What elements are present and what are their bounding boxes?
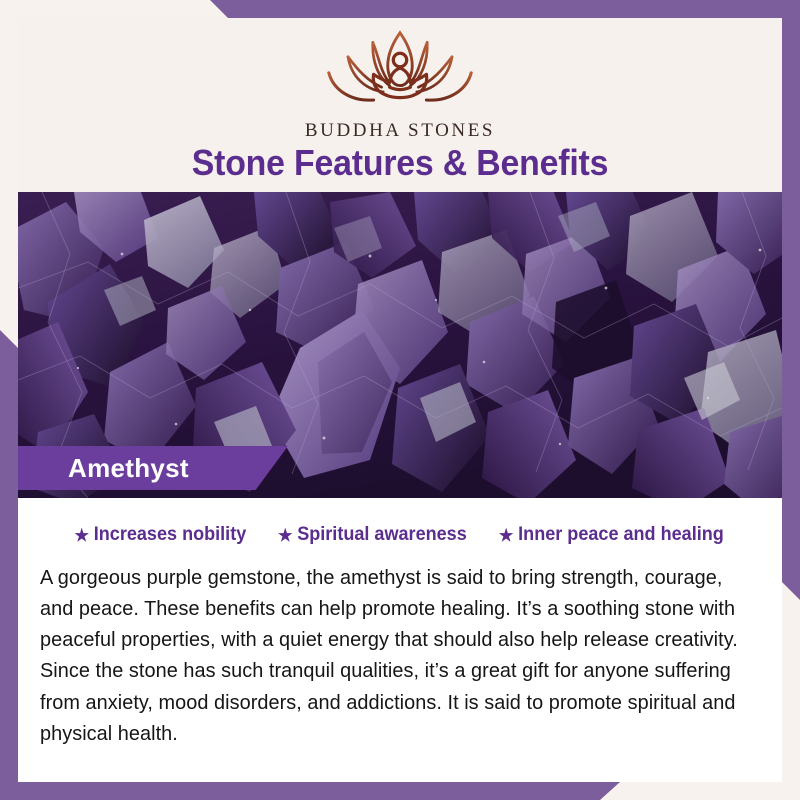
brand-logo: BUDDHA STONES bbox=[18, 28, 782, 142]
lotus-meditation-figure-icon bbox=[316, 28, 484, 116]
feature-label: Inner peace and healing bbox=[519, 524, 725, 546]
frame-right-bar bbox=[782, 0, 800, 600]
feature-item-1: ★ Increases nobility bbox=[74, 524, 246, 546]
frame-left-bar bbox=[0, 330, 18, 800]
feature-list: ★ Increases nobility ★ Spiritual awarene… bbox=[40, 524, 760, 546]
stone-name-ribbon: Amethyst bbox=[18, 446, 288, 490]
feature-label: Increases nobility bbox=[94, 524, 246, 546]
page-title: Stone Features & Benefits bbox=[41, 142, 759, 184]
star-icon: ★ bbox=[278, 527, 292, 544]
brand-name: BUDDHA STONES bbox=[305, 120, 495, 142]
stone-name-label: Amethyst bbox=[68, 453, 189, 484]
amethyst-crystal-image: Amethyst bbox=[18, 192, 782, 498]
stone-description: A gorgeous purple gemstone, the amethyst… bbox=[40, 562, 738, 749]
frame-bottom-bar bbox=[0, 782, 620, 800]
info-card: BUDDHA STONES Stone Features & Benefits bbox=[18, 18, 782, 782]
card-header: BUDDHA STONES Stone Features & Benefits bbox=[18, 18, 782, 192]
card-body: ★ Increases nobility ★ Spiritual awarene… bbox=[18, 498, 782, 782]
star-icon: ★ bbox=[74, 527, 88, 544]
feature-item-2: ★ Spiritual awareness bbox=[278, 524, 467, 546]
star-icon: ★ bbox=[499, 527, 513, 544]
feature-item-3: ★ Inner peace and healing bbox=[499, 524, 724, 546]
frame-top-bar bbox=[210, 0, 800, 18]
feature-label: Spiritual awareness bbox=[297, 524, 467, 546]
